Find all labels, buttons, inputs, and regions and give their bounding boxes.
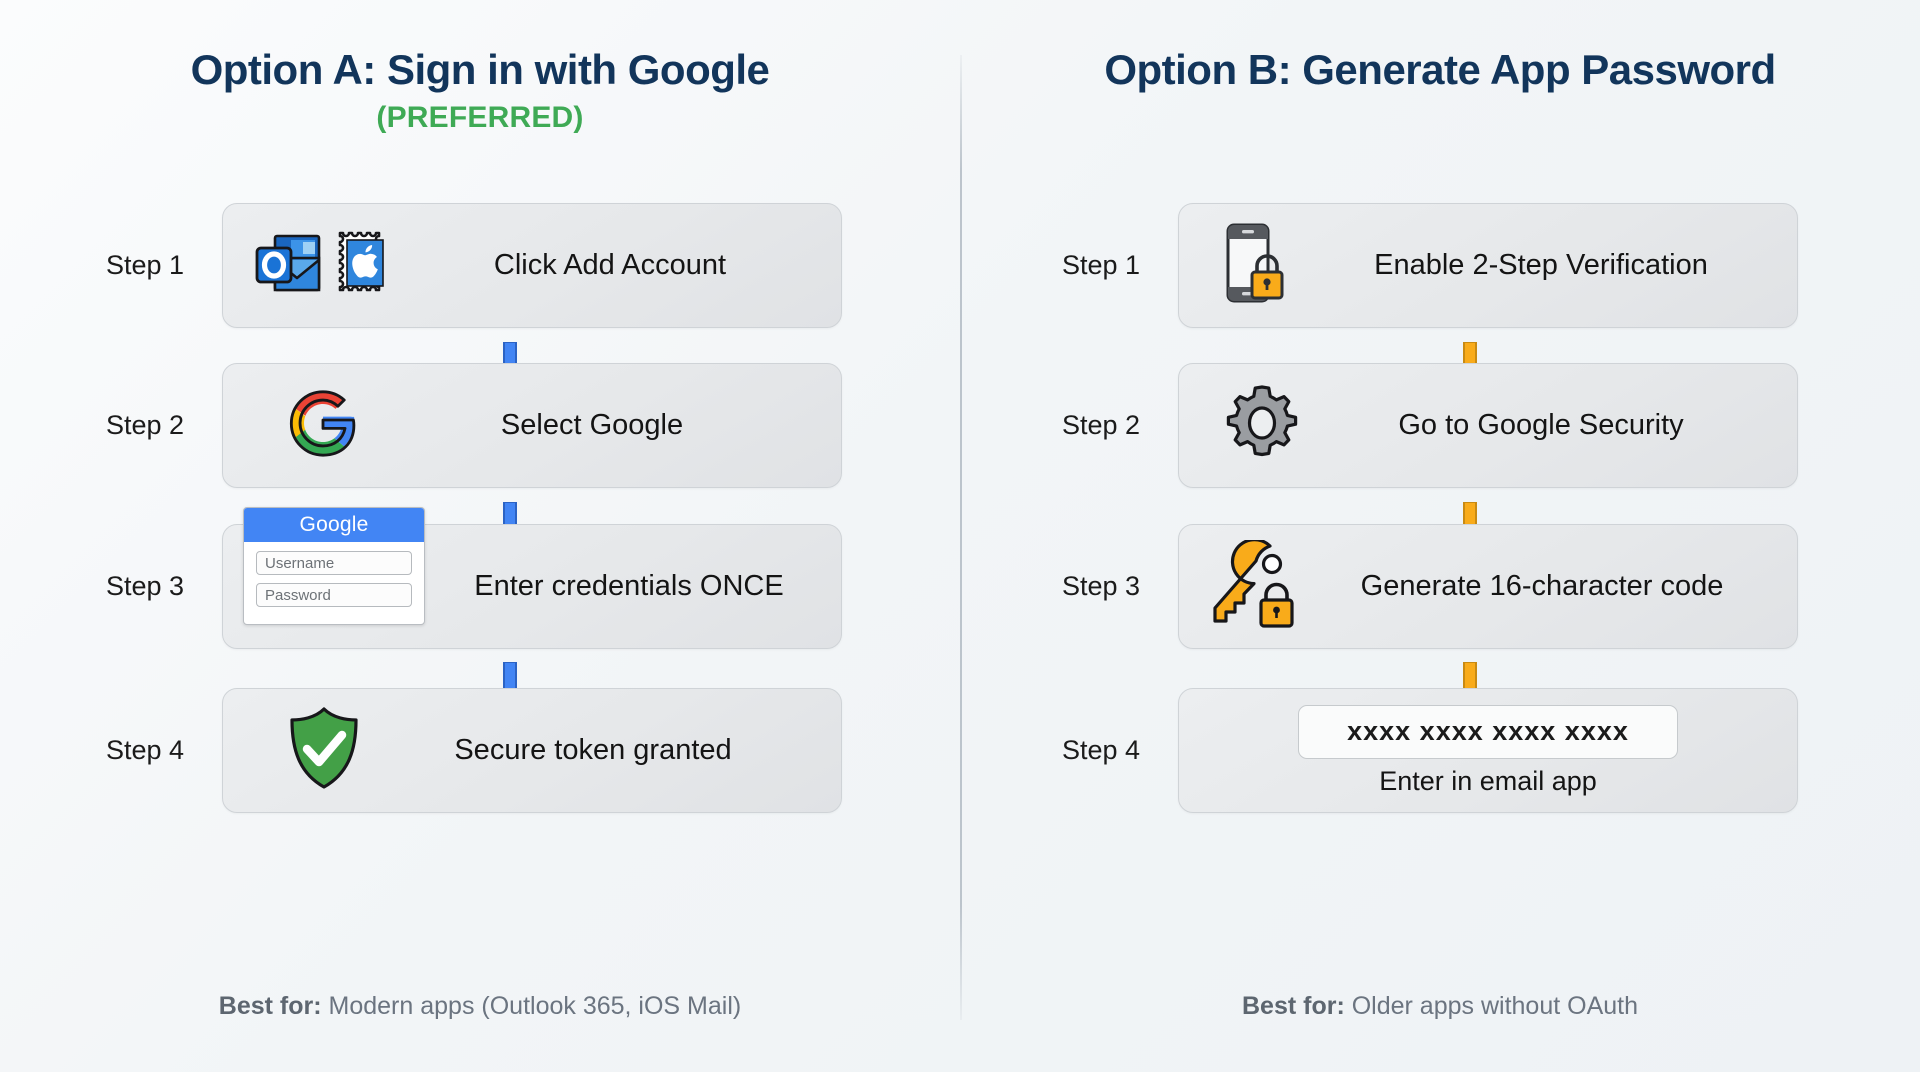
apple-mail-stamp-icon [333,224,397,307]
option-a-footer-text: Modern apps (Outlook 365, iOS Mail) [322,992,742,1020]
option-a-step-1-label: Step 1 [100,250,222,281]
app-password-code-stack: xxxx xxxx xxxx xxxx Enter in email app [1179,705,1797,797]
option-a-step-2-box[interactable]: Select Google [222,363,842,488]
option-b-step-1-label: Step 1 [1056,250,1178,281]
option-b-title: Option B: Generate App Password [960,46,1920,94]
option-a-step-1-text: Click Add Account [397,249,841,282]
option-b-step-1-box[interactable]: Enable 2-Step Verification [1178,203,1798,328]
option-b-step-2-row: Step 2 Go to Google Security [1056,363,1798,488]
option-a-footer-lead: Best for: [219,992,322,1020]
option-a-column: Option A: Sign in with Google (PREFERRED… [0,0,960,1072]
option-a-step-1-icons [249,224,397,307]
option-b-footer-lead: Best for: [1242,992,1345,1020]
option-a-step-2-text: Select Google [361,409,841,442]
shield-check-icon [285,705,363,796]
option-a-step-4-text: Secure token granted [363,734,841,767]
option-a-step-2-label: Step 2 [100,410,222,441]
option-b-step-2-text: Go to Google Security [1303,409,1797,442]
option-a-step-3-row: Step 3 Google Username Password Enter cr… [100,524,842,649]
password-field[interactable]: Password [256,583,412,607]
option-b-step-2-box[interactable]: Go to Google Security [1178,363,1798,488]
option-a-step-4-row: Step 4 Secure token granted [100,688,842,813]
google-signin-card[interactable]: Google Username Password [243,507,425,625]
option-a-step-4-icons [285,705,363,796]
phone-lock-icon [1211,217,1303,314]
google-g-icon [285,385,361,466]
option-b-step-1-text: Enable 2-Step Verification [1303,249,1797,282]
option-b-step-2-icons [1221,382,1303,469]
option-b-step-4-box[interactable]: xxxx xxxx xxxx xxxx Enter in email app [1178,688,1798,813]
option-b-footer: Best for: Older apps without OAuth [960,992,1920,1021]
key-lock-icon [1209,540,1305,633]
option-b-step-3-box[interactable]: Generate 16-character code [1178,524,1798,649]
option-a-step-3-box[interactable]: Google Username Password Enter credentia… [222,524,842,649]
option-b-step-4-row: Step 4 xxxx xxxx xxxx xxxx Enter in emai… [1056,688,1798,813]
app-password-caption: Enter in email app [1379,766,1597,797]
gear-icon [1221,382,1303,469]
option-b-column: Option B: Generate App Password Step 1 [960,0,1920,1072]
option-a-step-3-label: Step 3 [100,571,222,602]
diagram-canvas: Option A: Sign in with Google (PREFERRED… [0,0,1920,1072]
option-b-footer-text: Older apps without OAuth [1345,992,1638,1020]
option-b-step-4-label: Step 4 [1056,735,1178,766]
username-field[interactable]: Username [256,551,412,575]
option-a-step-3-text: Enter credentials ONCE [435,570,841,603]
option-a-step-1-row: Step 1 [100,203,842,328]
option-a-step-4-label: Step 4 [100,735,222,766]
google-signin-card-header: Google [244,508,424,542]
option-a-title: Option A: Sign in with Google [0,46,960,94]
option-a-step-2-row: Step 2 Select Google [100,363,842,488]
option-b-step-3-label: Step 3 [1056,571,1178,602]
option-a-footer: Best for: Modern apps (Outlook 365, iOS … [0,992,960,1021]
app-password-code-field[interactable]: xxxx xxxx xxxx xxxx [1298,705,1678,759]
option-a-step-4-box[interactable]: Secure token granted [222,688,842,813]
option-a-step-2-icons [285,385,361,466]
option-b-step-1-icons [1211,217,1303,314]
outlook-icon [249,224,327,307]
google-signin-card-body: Username Password [244,542,424,607]
option-b-step-1-row: Step 1 [1056,203,1798,328]
option-b-step-3-row: Step 3 Generate 16-character [1056,524,1798,649]
option-b-step-3-icons [1209,540,1305,633]
option-a-subtitle: (PREFERRED) [0,101,960,135]
option-b-step-3-text: Generate 16-character code [1305,570,1797,603]
option-b-step-2-label: Step 2 [1056,410,1178,441]
option-a-step-1-box[interactable]: Click Add Account [222,203,842,328]
